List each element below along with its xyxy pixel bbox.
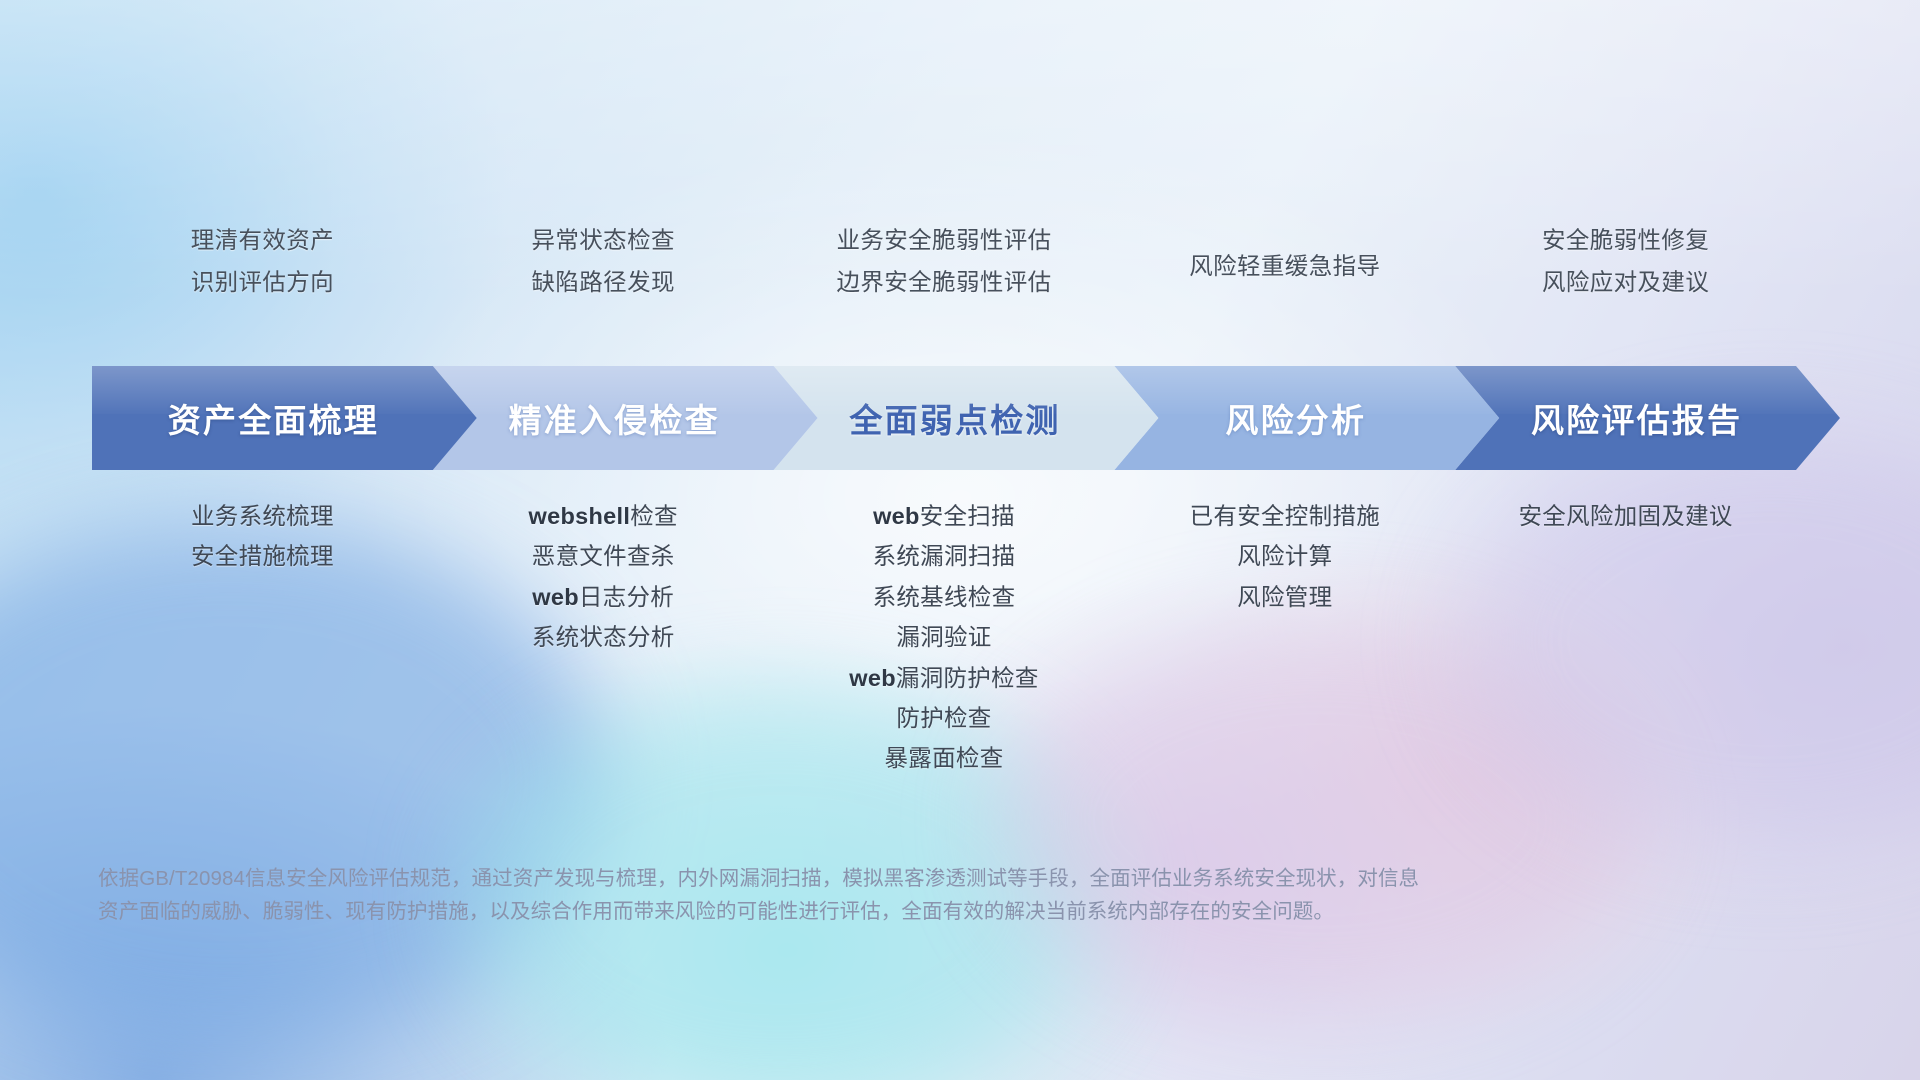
- bottom-caption-group-risk-analysis: 已有安全控制措施风险计算风险管理: [1190, 504, 1380, 610]
- infographic-canvas: 理清有效资产识别评估方向异常状态检查缺陷路径发现业务安全脆弱性评估边界安全脆弱性…: [0, 0, 1920, 1080]
- chevron-stage-label: 风险分析: [1225, 394, 1388, 442]
- process-chevron-banner: 资产全面梳理精准入侵检查全面弱点检测风险分析风险评估报告: [92, 366, 1840, 470]
- chevron-stage-assessment-report[interactable]: 风险评估报告: [1455, 366, 1840, 470]
- bottom-caption-prefix: web: [532, 584, 579, 610]
- bottom-caption-prefix: web: [849, 665, 896, 691]
- bottom-caption-item: 业务系统梳理: [191, 504, 334, 529]
- bottom-caption-item: 安全措施梳理: [191, 544, 334, 569]
- bottom-caption-item: web漏洞防护检查: [849, 666, 1038, 691]
- top-caption-group-asset-inventory: 理清有效资产识别评估方向: [191, 228, 334, 294]
- footer-line-1: 依据GB/T20984信息安全风险评估规范，通过资产发现与梳理，内外网漏洞扫描，…: [98, 862, 1798, 895]
- top-caption-group-intrusion-check: 异常状态检查缺陷路径发现: [531, 228, 674, 294]
- top-caption-item: 安全脆弱性修复: [1542, 228, 1709, 253]
- bottom-caption-text: 漏洞防护检查: [896, 665, 1039, 691]
- bottom-caption-item: 已有安全控制措施: [1190, 504, 1380, 529]
- top-caption-group-weakness-detect: 业务安全脆弱性评估边界安全脆弱性评估: [836, 228, 1051, 294]
- top-caption-item: 边界安全脆弱性评估: [836, 270, 1051, 295]
- bottom-caption-item: 系统基线检查: [873, 585, 1016, 610]
- bottom-caption-text: 检查: [630, 503, 678, 529]
- chevron-stage-intrusion-check[interactable]: 精准入侵检查: [433, 366, 818, 470]
- top-caption-group-assessment-report: 安全脆弱性修复风险应对及建议: [1542, 228, 1709, 294]
- bottom-caption-item: web日志分析: [532, 585, 674, 610]
- bottom-caption-group-intrusion-check: webshell检查恶意文件查杀web日志分析系统状态分析: [529, 504, 678, 651]
- bottom-caption-item: 暴露面检查: [884, 746, 1003, 771]
- top-caption-item: 缺陷路径发现: [531, 270, 674, 295]
- footer-line-2: 资产面临的威胁、脆弱性、现有防护措施，以及综合作用而带来风险的可能性进行评估，全…: [98, 895, 1798, 928]
- bottom-caption-prefix: web: [873, 503, 920, 529]
- top-caption-item: 理清有效资产: [191, 228, 334, 253]
- chevron-stage-asset-inventory[interactable]: 资产全面梳理: [92, 366, 477, 470]
- bottom-caption-item: web安全扫描: [873, 504, 1015, 529]
- top-caption-group-risk-analysis: 风险轻重缓急指导: [1189, 254, 1380, 279]
- bottom-caption-text: 安全扫描: [920, 503, 1015, 529]
- top-caption-item: 识别评估方向: [191, 270, 334, 295]
- chevron-stage-label: 风险评估报告: [1531, 394, 1764, 442]
- top-caption-item: 风险轻重缓急指导: [1189, 254, 1380, 279]
- bottom-caption-item: 风险管理: [1237, 585, 1332, 610]
- bottom-caption-text: 日志分析: [579, 584, 674, 610]
- bottom-caption-prefix: webshell: [529, 503, 631, 529]
- bottom-caption-item: 防护检查: [896, 706, 991, 731]
- bottom-caption-item: webshell检查: [529, 504, 678, 529]
- top-caption-item: 业务安全脆弱性评估: [836, 228, 1051, 253]
- bottom-caption-item: 风险计算: [1237, 544, 1332, 569]
- chevron-stage-label: 资产全面梳理: [168, 394, 401, 442]
- bottom-caption-item: 系统漏洞扫描: [873, 544, 1016, 569]
- infographic-content: 理清有效资产识别评估方向异常状态检查缺陷路径发现业务安全脆弱性评估边界安全脆弱性…: [0, 0, 1920, 1080]
- bottom-caption-item: 漏洞验证: [896, 625, 991, 650]
- top-caption-item: 异常状态检查: [531, 228, 674, 253]
- chevron-stage-label: 全面弱点检测: [849, 394, 1082, 442]
- footer-description: 依据GB/T20984信息安全风险评估规范，通过资产发现与梳理，内外网漏洞扫描，…: [98, 862, 1798, 928]
- bottom-caption-group-assessment-report: 安全风险加固及建议: [1518, 504, 1732, 529]
- top-caption-item: 风险应对及建议: [1542, 270, 1709, 295]
- chevron-stage-risk-analysis[interactable]: 风险分析: [1114, 366, 1499, 470]
- bottom-caption-item: 恶意文件查杀: [532, 544, 675, 569]
- bottom-caption-item: 系统状态分析: [532, 625, 675, 650]
- chevron-stage-weakness-detect[interactable]: 全面弱点检测: [774, 366, 1159, 470]
- chevron-stage-label: 精准入侵检查: [509, 394, 742, 442]
- bottom-caption-group-weakness-detect: web安全扫描系统漏洞扫描系统基线检查漏洞验证web漏洞防护检查防护检查暴露面检…: [849, 504, 1038, 772]
- bottom-caption-item: 安全风险加固及建议: [1518, 504, 1732, 529]
- bottom-caption-group-asset-inventory: 业务系统梳理安全措施梳理: [191, 504, 334, 570]
